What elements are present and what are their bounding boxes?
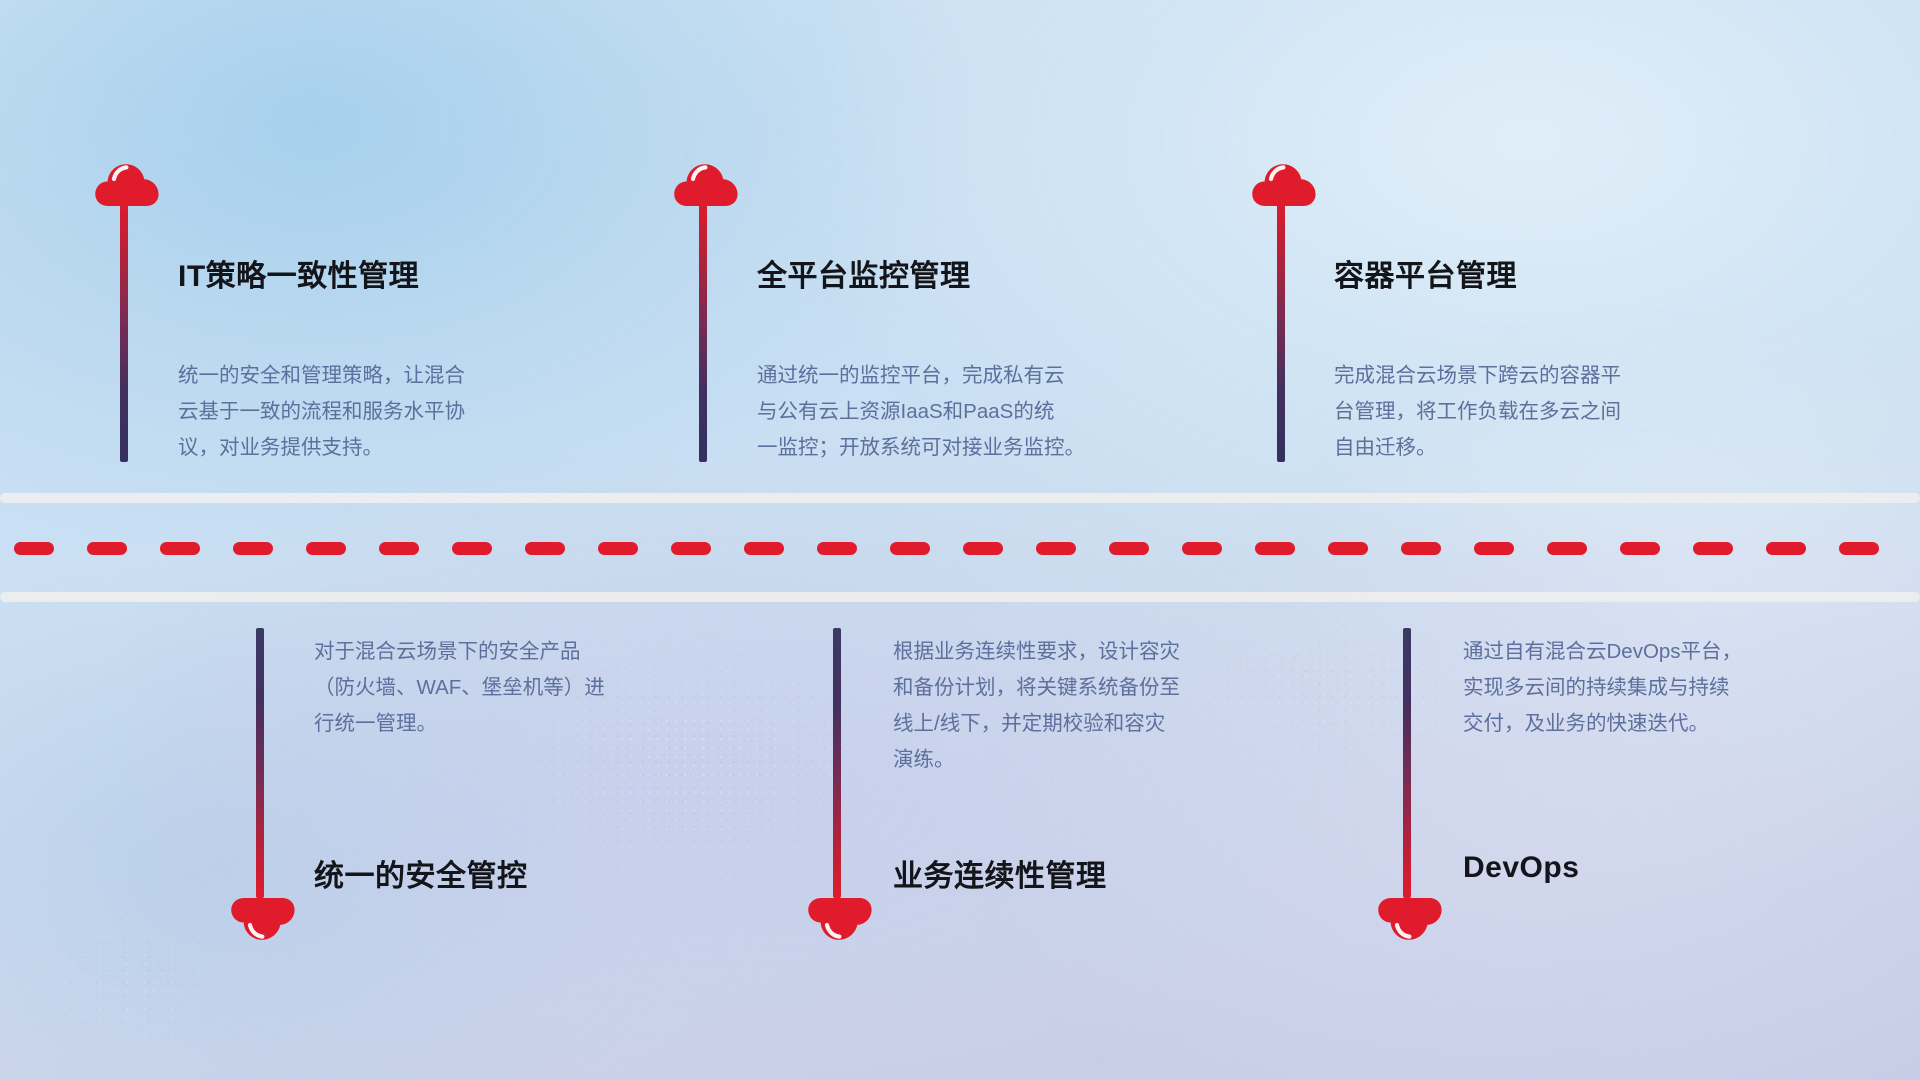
separator-dash xyxy=(1839,542,1879,555)
separator-dash xyxy=(598,542,638,555)
card-body-devops: 通过自有混合云DevOps平台， 实现多云间的持续集成与持续 交付，及业务的快速… xyxy=(1463,634,1913,742)
card-body-continuity: 根据业务连续性要求，设计容灾 和备份计划，将关键系统备份至 线上/线下，并定期校… xyxy=(893,634,1333,778)
divider-rail-bottom xyxy=(0,592,1920,602)
card-title-security: 统一的安全管控 xyxy=(314,851,528,895)
separator-dash xyxy=(744,542,784,555)
separator-dash xyxy=(1328,542,1368,555)
separator-dash xyxy=(817,542,857,555)
card-body-monitoring: 通过统一的监控平台，完成私有云 与公有云上资源IaaS和PaaS的统 一监控；开… xyxy=(757,358,1207,466)
card-body-container: 完成混合云场景下跨云的容器平 台管理，将工作负载在多云之间 自由迁移。 xyxy=(1334,358,1774,466)
connector-stem xyxy=(1403,628,1411,898)
separator-dash xyxy=(890,542,930,555)
separator-dash xyxy=(1182,542,1222,555)
card-body-it-policy: 统一的安全和管理策略，让混合 云基于一致的流程和服务水平协 议，对业务提供支持。 xyxy=(178,358,608,466)
connector-stem xyxy=(833,628,841,898)
separator-dash xyxy=(525,542,565,555)
separator-dash xyxy=(452,542,492,555)
cloud-icon xyxy=(230,896,296,944)
cloud-icon xyxy=(1377,896,1443,944)
separator-dash xyxy=(1693,542,1733,555)
separator-dash xyxy=(1766,542,1806,555)
separator-dash xyxy=(1547,542,1587,555)
separator-dash xyxy=(1620,542,1660,555)
card-title-continuity: 业务连续性管理 xyxy=(893,851,1107,895)
card-body-security: 对于混合云场景下的安全产品 （防火墙、WAF、堡垒机等）进 行统一管理。 xyxy=(314,634,754,742)
separator-dash xyxy=(1255,542,1295,555)
connector-stem xyxy=(1277,200,1285,462)
separator-dash xyxy=(14,542,54,555)
separator-dash xyxy=(963,542,1003,555)
separator-dash xyxy=(1109,542,1149,555)
card-title-monitoring: 全平台监控管理 xyxy=(757,251,971,295)
separator-dash xyxy=(379,542,419,555)
card-title-container: 容器平台管理 xyxy=(1334,251,1517,295)
separator-dash xyxy=(160,542,200,555)
cloud-icon xyxy=(807,896,873,944)
infographic-canvas: IT策略一致性管理 统一的安全和管理策略，让混合 云基于一致的流程和服务水平协 … xyxy=(0,0,1920,1080)
card-title-devops: DevOps xyxy=(1463,851,1579,885)
separator-dash xyxy=(1401,542,1441,555)
red-dashed-separator xyxy=(0,542,1920,555)
separator-dash xyxy=(87,542,127,555)
separator-dash xyxy=(1474,542,1514,555)
separator-dash xyxy=(306,542,346,555)
card-title-it-policy: IT策略一致性管理 xyxy=(178,251,419,295)
connector-stem xyxy=(256,628,264,898)
separator-dash xyxy=(671,542,711,555)
separator-dash xyxy=(233,542,273,555)
separator-dash xyxy=(1036,542,1076,555)
connector-stem xyxy=(699,200,707,462)
connector-stem xyxy=(120,200,128,462)
divider-rail-top xyxy=(0,493,1920,503)
